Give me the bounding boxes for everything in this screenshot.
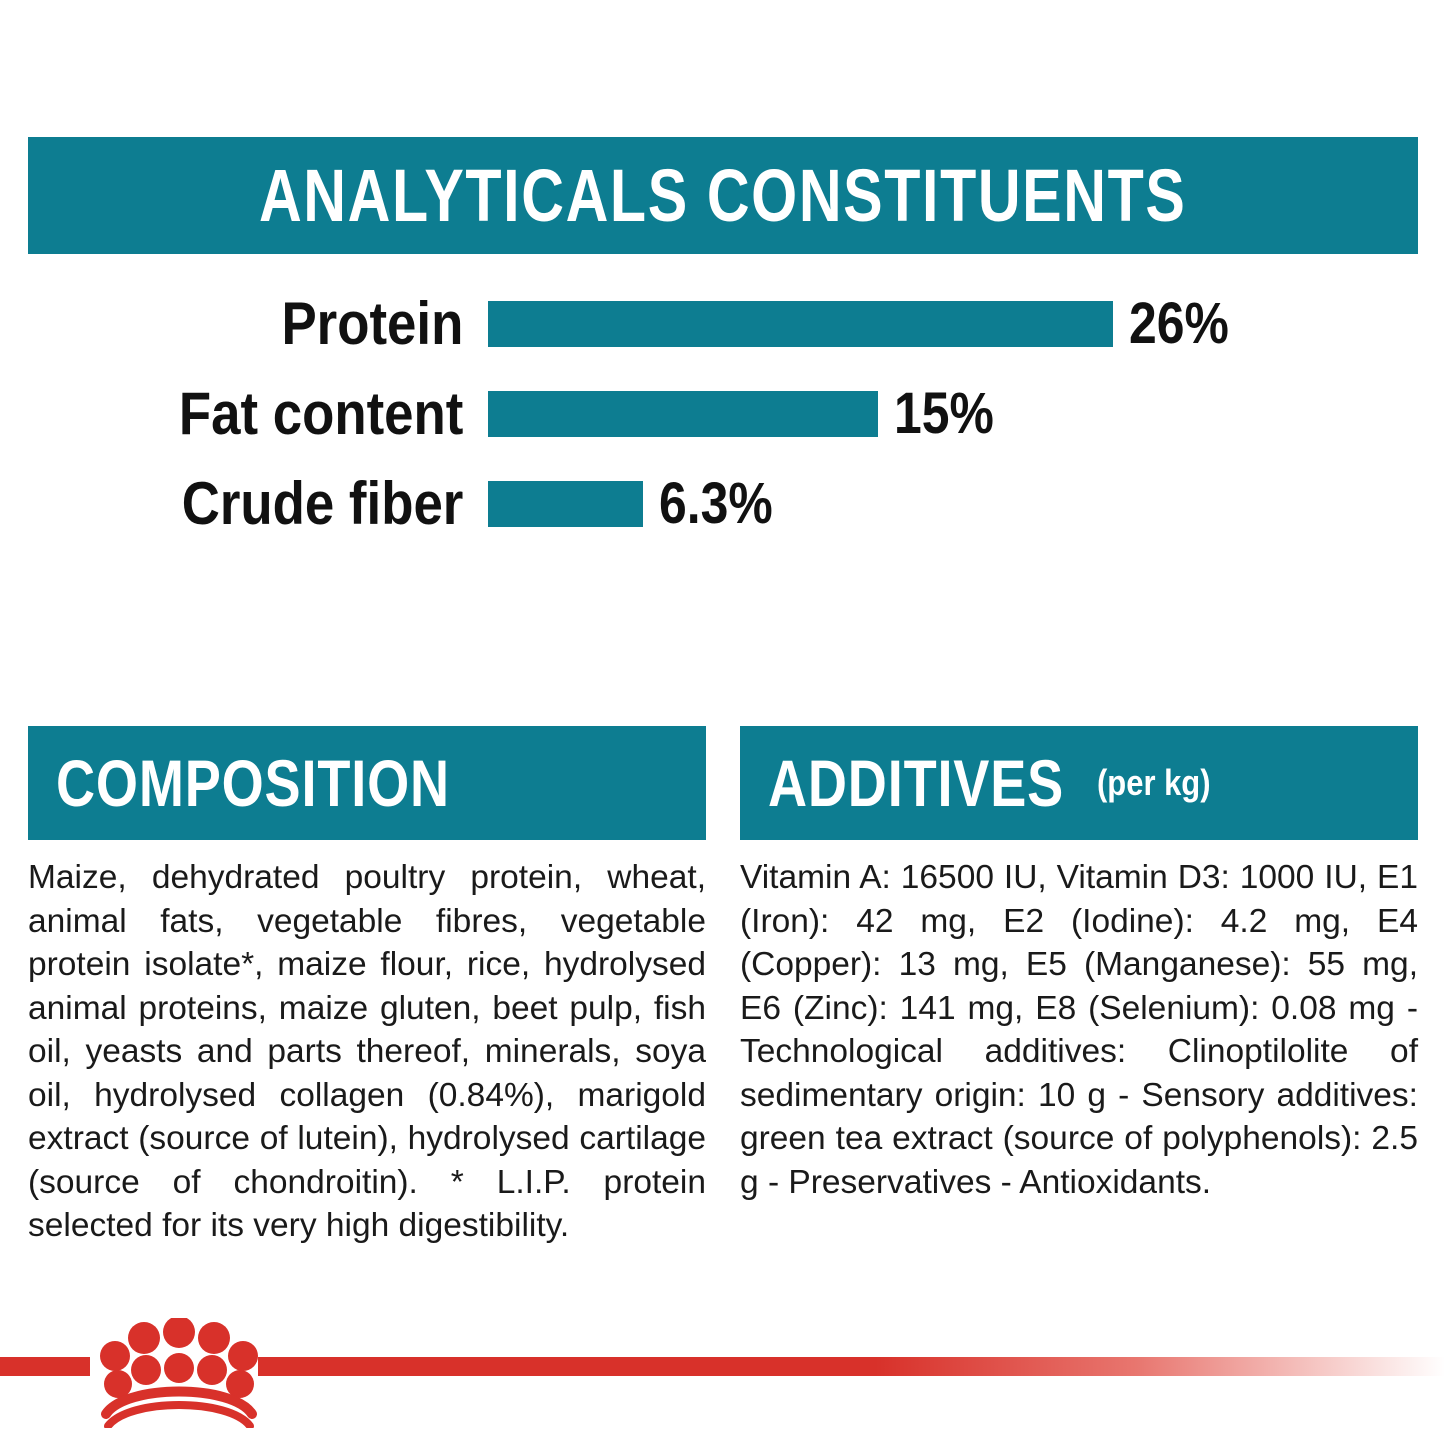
- page-title: ANALYTICALS CONSTITUENTS: [259, 159, 1187, 233]
- royal-canin-crown-icon: [96, 1318, 262, 1428]
- additives-text: Vitamin A: 16500 IU, Vitamin D3: 1000 IU…: [740, 856, 1418, 1204]
- chart-label-fat-content: Fat content: [83, 384, 488, 444]
- chart-bar-protein: [488, 301, 1113, 347]
- chart-row-protein: Protein 26%: [28, 285, 1418, 363]
- chart-row-fat-content: Fat content 15%: [28, 375, 1418, 453]
- chart-value-protein: 26%: [1129, 295, 1229, 353]
- additives-subtitle: (per kg): [1097, 765, 1211, 801]
- analytical-constituents-header: ANALYTICALS CONSTITUENTS: [28, 137, 1418, 254]
- composition-section: COMPOSITION Maize, dehydrated poultry pr…: [28, 726, 706, 1248]
- chart-bar-crude-fiber: [488, 481, 643, 527]
- nutrition-label-page: ANALYTICALS CONSTITUENTS Protein 26% Fat…: [0, 0, 1445, 1445]
- chart-label-crude-fiber: Crude fiber: [83, 474, 488, 534]
- additives-section: ADDITIVES (per kg) Vitamin A: 16500 IU, …: [740, 726, 1418, 1204]
- chart-track-fat-content: 15%: [488, 375, 1418, 453]
- additives-title: ADDITIVES: [768, 750, 1064, 816]
- footer-rule-right: [258, 1357, 1445, 1376]
- footer-rule-left: [0, 1357, 90, 1376]
- composition-header: COMPOSITION: [28, 726, 706, 840]
- analytical-constituents-chart: Protein 26% Fat content 15% Crude fiber …: [28, 285, 1418, 565]
- composition-text: Maize, dehydrated poultry protein, wheat…: [28, 856, 706, 1248]
- chart-value-fat-content: 15%: [894, 385, 994, 443]
- chart-row-crude-fiber: Crude fiber 6.3%: [28, 465, 1418, 543]
- footer-brand-bar: [0, 1318, 1445, 1445]
- chart-label-protein: Protein: [83, 294, 488, 354]
- chart-bar-fat-content: [488, 391, 878, 437]
- chart-track-crude-fiber: 6.3%: [488, 465, 1418, 543]
- additives-header: ADDITIVES (per kg): [740, 726, 1418, 840]
- composition-title: COMPOSITION: [56, 750, 450, 816]
- chart-track-protein: 26%: [488, 285, 1418, 363]
- chart-value-crude-fiber: 6.3%: [659, 475, 773, 533]
